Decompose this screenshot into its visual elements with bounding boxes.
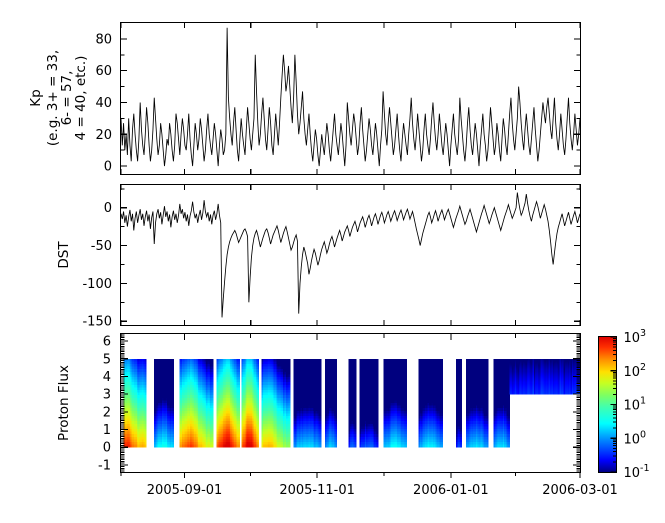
heatmap-cell [355, 380, 357, 383]
heatmap-cell [289, 374, 291, 377]
heatmap-cell [257, 393, 259, 396]
heatmap-cell [211, 377, 213, 380]
heatmap-cell [145, 406, 147, 409]
heatmap-cell [211, 416, 213, 419]
heatmap-cell [145, 419, 147, 422]
heatmap-cell [211, 367, 213, 370]
heatmap-cell [257, 395, 259, 398]
heatmap-cell [238, 364, 240, 367]
heatmap-cell [145, 411, 147, 414]
heatmap-cell [172, 413, 174, 416]
heatmap-cell [335, 408, 337, 411]
heatmap-cell [257, 416, 259, 419]
heatmap-cell [238, 408, 240, 411]
heatmap-cell [320, 406, 322, 409]
heatmap-cell [335, 403, 337, 406]
heatmap-cell [289, 421, 291, 424]
heatmap-cell [257, 413, 259, 416]
heatmap-cell [257, 439, 259, 442]
heatmap-cell [238, 437, 240, 440]
heatmap-cell [211, 419, 213, 422]
heatmap-cell [145, 434, 147, 437]
heatmap-cell [211, 359, 213, 362]
heatmap-cell [289, 419, 291, 422]
heatmap-cell [355, 390, 357, 393]
heatmap-cell [335, 400, 337, 403]
heatmap-cell [320, 421, 322, 424]
heatmap-cell [320, 377, 322, 380]
heatmap-cell [238, 421, 240, 424]
heatmap-cell [238, 424, 240, 427]
heatmap-cell [211, 385, 213, 388]
heatmap-cell [172, 406, 174, 409]
heatmap-cell [172, 393, 174, 396]
heatmap-cell [145, 421, 147, 424]
heatmap-cell [238, 385, 240, 388]
heatmap-cell [335, 421, 337, 424]
heatmap-cell [211, 390, 213, 393]
heatmap-cell [320, 442, 322, 445]
heatmap-cell [211, 403, 213, 406]
heatmap-cell [335, 398, 337, 401]
heatmap-cell [145, 372, 147, 375]
heatmap-cell [172, 377, 174, 380]
heatmap-cell [211, 372, 213, 375]
heatmap-cell [289, 380, 291, 383]
heatmap-cell [289, 364, 291, 367]
heatmap-cell [172, 411, 174, 414]
heatmap-cell [320, 411, 322, 414]
heatmap-cell [289, 411, 291, 414]
heatmap-cell [238, 413, 240, 416]
heatmap-cell [335, 380, 337, 383]
heatmap-cell [145, 385, 147, 388]
heatmap-cell [335, 361, 337, 364]
heatmap-cell [238, 429, 240, 432]
heatmap-cell [145, 398, 147, 401]
heatmap-cell [211, 400, 213, 403]
heatmap-cell [257, 421, 259, 424]
heatmap-cell [145, 364, 147, 367]
heatmap-cell [257, 398, 259, 401]
dst-y-tick-label: 0 [104, 201, 112, 216]
heatmap-cell [172, 445, 174, 448]
heatmap-cell [238, 406, 240, 409]
heatmap-cell [289, 372, 291, 375]
heatmap-cell [172, 416, 174, 419]
heatmap-cell [289, 416, 291, 419]
heatmap-cell [335, 434, 337, 437]
kp-y-tick-label: 40 [95, 96, 112, 111]
heatmap-cell [320, 434, 322, 437]
heatmap-cell [172, 421, 174, 424]
heatmap-cell [211, 364, 213, 367]
heatmap-cell [172, 432, 174, 435]
heatmap-cell [289, 387, 291, 390]
heatmap-cell [355, 372, 357, 375]
heatmap-cell [335, 439, 337, 442]
heatmap-cell [211, 424, 213, 427]
heatmap-cell [355, 421, 357, 424]
heatmap-cell [257, 400, 259, 403]
heatmap-cell [320, 393, 322, 396]
heatmap-cell [320, 361, 322, 364]
heatmap-cell [289, 413, 291, 416]
heatmap-cell [289, 398, 291, 401]
heatmap-cell [211, 387, 213, 390]
heatmap-cell [257, 387, 259, 390]
heatmap-cell [355, 400, 357, 403]
heatmap-cell [257, 380, 259, 383]
heatmap-cell [355, 408, 357, 411]
heatmap-cell [320, 387, 322, 390]
heatmap-cell [335, 432, 337, 435]
heatmap-cell [211, 426, 213, 429]
heatmap-cell [355, 385, 357, 388]
heatmap-cell [355, 359, 357, 362]
heatmap-cell [289, 400, 291, 403]
heatmap-cell [320, 426, 322, 429]
heatmap-cell [211, 411, 213, 414]
heatmap-cell [211, 374, 213, 377]
heatmap-cell [211, 398, 213, 401]
heatmap-cell [355, 403, 357, 406]
kp-label-line-0: Kp [28, 89, 44, 106]
heatmap-cell [238, 380, 240, 383]
heatmap-cell [289, 403, 291, 406]
heatmap-cell [257, 403, 259, 406]
heatmap-cell [145, 382, 147, 385]
figure-canvas: 020406080 Kp (e.g. 3+ = 33, 6- = 57, 4 =… [0, 0, 665, 523]
heatmap-cell [257, 377, 259, 380]
heatmap-cell [257, 359, 259, 362]
heatmap-cell [145, 380, 147, 383]
heatmap-cell [335, 437, 337, 440]
heatmap-cell [289, 429, 291, 432]
heatmap-cell [335, 372, 337, 375]
heatmap-cell [257, 390, 259, 393]
dst-y-tick-label: -50 [91, 239, 112, 254]
heatmap-cell [172, 426, 174, 429]
heatmap-cell [145, 445, 147, 448]
heatmap-cell [145, 393, 147, 396]
heatmap-cell [355, 437, 357, 440]
heatmap-cell [355, 413, 357, 416]
heatmap-cell [211, 434, 213, 437]
heatmap-cell [355, 429, 357, 432]
heatmap-cell [335, 413, 337, 416]
heatmap-cell [335, 364, 337, 367]
heatmap-cell [335, 411, 337, 414]
heatmap-cell [257, 367, 259, 370]
heatmap-cell [238, 367, 240, 370]
heatmap-cell [172, 369, 174, 372]
heatmap-cell [211, 369, 213, 372]
heatmap-cell [257, 437, 259, 440]
heatmap-cell [355, 398, 357, 401]
heatmap-cell [320, 445, 322, 448]
heatmap-cell [355, 416, 357, 419]
heatmap-cell [238, 387, 240, 390]
heatmap-cell [289, 439, 291, 442]
heatmap-cell [238, 398, 240, 401]
heatmap-cell [172, 380, 174, 383]
heatmap-cell [355, 439, 357, 442]
heatmap-cell [355, 432, 357, 435]
heatmap-cell [320, 369, 322, 372]
heatmap-cell [289, 361, 291, 364]
heatmap-cell [320, 403, 322, 406]
heatmap-cell [145, 395, 147, 398]
heatmap-cell [145, 439, 147, 442]
heatmap-cell [320, 424, 322, 427]
kp-y-tick-label: 20 [95, 128, 112, 143]
heatmap-cell [320, 359, 322, 362]
scientific-plot: 020406080 Kp (e.g. 3+ = 33, 6- = 57, 4 =… [0, 0, 665, 523]
heatmap-cell [320, 374, 322, 377]
heatmap-cell [257, 372, 259, 375]
heatmap-cell [211, 406, 213, 409]
kp-y-tick-label: 80 [95, 32, 112, 47]
heatmap-cell [238, 442, 240, 445]
heatmap-cell [172, 437, 174, 440]
heatmap-cell [320, 390, 322, 393]
dst-y-tick-label: -100 [82, 277, 112, 292]
heatmap-cell [211, 429, 213, 432]
heatmap-cell [238, 445, 240, 448]
heatmap-cell [335, 377, 337, 380]
heatmap-cell [211, 442, 213, 445]
heatmap-cell [172, 442, 174, 445]
heatmap-cell [335, 416, 337, 419]
heatmap-cell [238, 426, 240, 429]
heatmap-cell [320, 382, 322, 385]
heatmap-cell [257, 432, 259, 435]
heatmap-cell [335, 382, 337, 385]
heatmap-cell [145, 437, 147, 440]
heatmap-cell [355, 382, 357, 385]
heatmap-cell [238, 361, 240, 364]
heatmap-cell [335, 419, 337, 422]
heatmap-cell [289, 424, 291, 427]
heatmap-cell [211, 413, 213, 416]
heatmap-cell [289, 377, 291, 380]
heatmap-cell [335, 429, 337, 432]
heatmap-cell [238, 403, 240, 406]
heatmap-cell [238, 372, 240, 375]
heatmap-cell [335, 374, 337, 377]
heatmap-cell [145, 413, 147, 416]
heatmap-cell [289, 408, 291, 411]
heatmap-cell [289, 390, 291, 393]
heatmap-cell [320, 429, 322, 432]
heatmap-cell [172, 372, 174, 375]
heatmap-cell [145, 429, 147, 432]
heatmap-cell [257, 424, 259, 427]
heatmap-cell [211, 421, 213, 424]
heatmap-cell [257, 374, 259, 377]
heatmap-cell [145, 408, 147, 411]
heatmap-cell [355, 387, 357, 390]
heatmap-cell [172, 374, 174, 377]
heatmap-cell [335, 395, 337, 398]
heatmap-cell [238, 395, 240, 398]
heatmap-cell [145, 426, 147, 429]
heatmap-cell [289, 393, 291, 396]
heatmap-cell [335, 424, 337, 427]
heatmap-cell [335, 426, 337, 429]
heatmap-cell [145, 369, 147, 372]
heatmap-cell [211, 380, 213, 383]
heatmap-cell [320, 439, 322, 442]
heatmap-cell [335, 442, 337, 445]
heatmap-cell [238, 393, 240, 396]
heatmap-cell [335, 406, 337, 409]
heatmap-cell [335, 359, 337, 362]
heatmap-cell [238, 390, 240, 393]
heatmap-cell [289, 385, 291, 388]
heatmap-cell [289, 382, 291, 385]
heatmap-cell [257, 429, 259, 432]
heatmap-cell [211, 395, 213, 398]
heatmap-cell [320, 413, 322, 416]
heatmap-cell [172, 364, 174, 367]
heatmap-cell [211, 437, 213, 440]
heatmap-cell [289, 445, 291, 448]
heatmap-cell [320, 372, 322, 375]
heatmap-cell [320, 400, 322, 403]
heatmap-cell [355, 367, 357, 370]
heatmap-cell [289, 359, 291, 362]
heatmap-cell [335, 385, 337, 388]
heatmap-cell [320, 380, 322, 383]
heatmap-cell [211, 393, 213, 396]
heatmap-cell [335, 393, 337, 396]
heatmap-cell [320, 367, 322, 370]
heatmap-cell [320, 437, 322, 440]
heatmap-cell [355, 361, 357, 364]
heatmap-cell [145, 377, 147, 380]
heatmap-cell [145, 424, 147, 427]
heatmap-cell [145, 442, 147, 445]
heatmap-cell [238, 419, 240, 422]
heatmap-cell [145, 432, 147, 435]
heatmap-cell [320, 398, 322, 401]
heatmap-cell [172, 434, 174, 437]
heatmap-cell [145, 374, 147, 377]
heatmap-cell [172, 382, 174, 385]
heatmap-cell [355, 419, 357, 422]
heatmap-cell [172, 419, 174, 422]
heatmap-cell [238, 434, 240, 437]
heatmap-cell [320, 408, 322, 411]
heatmap-cell [145, 359, 147, 362]
heatmap-cell [238, 416, 240, 419]
heatmap-cell [257, 361, 259, 364]
heatmap-cell [145, 361, 147, 364]
heatmap-cell [289, 442, 291, 445]
dst-y-tick-label: -150 [82, 315, 112, 330]
heatmap-cell [335, 390, 337, 393]
heatmap-cell [320, 385, 322, 388]
heatmap-cell [289, 426, 291, 429]
heatmap-cell [238, 374, 240, 377]
kp-label-line-3: 4 = 40, etc.) [73, 56, 89, 141]
heatmap-cell [172, 390, 174, 393]
heatmap-cell [355, 426, 357, 429]
heatmap-cell [335, 445, 337, 448]
heatmap-cell [172, 385, 174, 388]
heatmap-cell [257, 411, 259, 414]
heatmap-cell [211, 439, 213, 442]
heatmap-cell [172, 361, 174, 364]
heatmap-cell [355, 434, 357, 437]
heatmap-cell [145, 367, 147, 370]
heatmap-cell [355, 406, 357, 409]
heatmap-cell [172, 387, 174, 390]
heatmap-cell [172, 424, 174, 427]
heatmap-cell [289, 437, 291, 440]
heatmap-cell [172, 439, 174, 442]
heatmap-cell [289, 367, 291, 370]
kp-y-tick-label: 60 [95, 64, 112, 79]
heatmap-cell [320, 395, 322, 398]
heatmap-cell [211, 382, 213, 385]
heatmap-cell [238, 411, 240, 414]
heatmap-cell [172, 359, 174, 362]
heatmap-cell [172, 408, 174, 411]
heatmap-cell [355, 411, 357, 414]
heatmap-cell [289, 434, 291, 437]
heatmap-cell [289, 395, 291, 398]
heatmap-cell [257, 364, 259, 367]
heatmap-cell [355, 442, 357, 445]
heatmap-cell [238, 377, 240, 380]
heatmap-cell [257, 442, 259, 445]
heatmap-cell [355, 369, 357, 372]
heatmap-cell [355, 364, 357, 367]
heatmap-cell [289, 406, 291, 409]
heatmap-cell [257, 385, 259, 388]
heatmap-cell [257, 434, 259, 437]
heatmap-cell [238, 382, 240, 385]
heatmap-cell [145, 416, 147, 419]
heatmap-cell [238, 439, 240, 442]
heatmap-cell [355, 445, 357, 448]
heatmap-cell [172, 367, 174, 370]
heatmap-cell [211, 361, 213, 364]
heatmap-cell [257, 419, 259, 422]
heatmap-cell [289, 432, 291, 435]
heatmap-cell [172, 429, 174, 432]
heatmap-cell [355, 395, 357, 398]
heatmap-cell [238, 432, 240, 435]
heatmap-cell [335, 367, 337, 370]
heatmap-cell [335, 387, 337, 390]
heatmap-cell [355, 424, 357, 427]
heatmap-cell [289, 369, 291, 372]
heatmap-cell [320, 416, 322, 419]
heatmap-cell [257, 445, 259, 448]
heatmap-cell [211, 445, 213, 448]
heatmap-cell [355, 377, 357, 380]
heatmap-cell [172, 398, 174, 401]
heatmap-cell [145, 403, 147, 406]
heatmap-cell [145, 400, 147, 403]
heatmap-cell [355, 393, 357, 396]
heatmap-cell [238, 400, 240, 403]
heatmap-cell [335, 369, 337, 372]
